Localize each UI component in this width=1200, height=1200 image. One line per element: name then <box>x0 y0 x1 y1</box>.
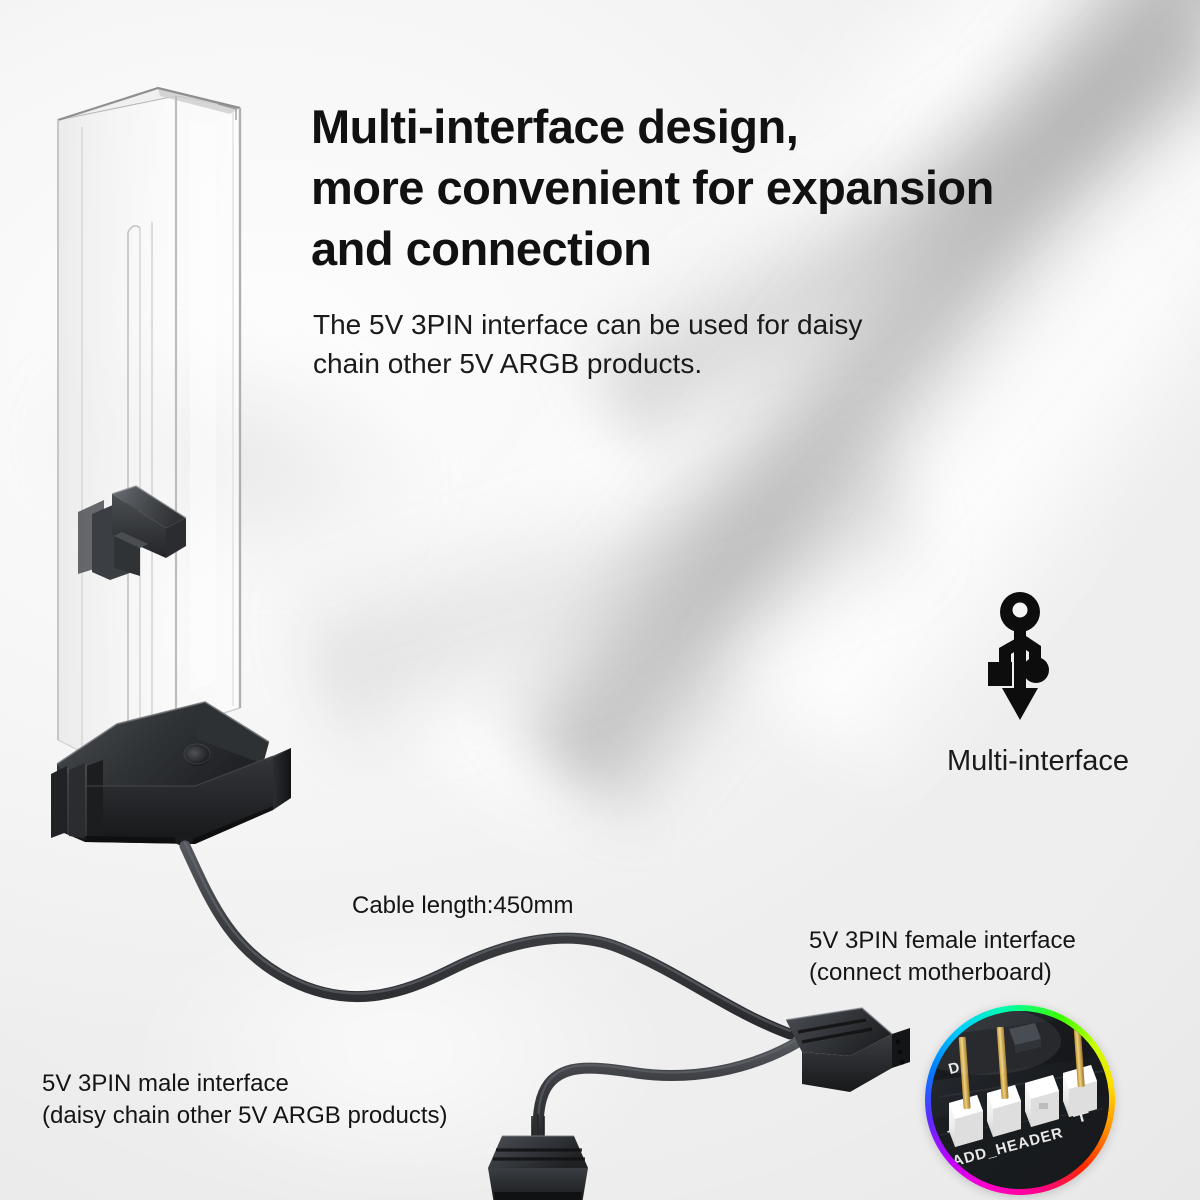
acrylic-diffuser-panel <box>40 80 300 780</box>
subtitle-line-2: chain other 5V ARGB products. <box>313 344 1013 383</box>
motherboard-closeup: D +5V D ADD_HEADER <box>931 1011 1109 1189</box>
mounting-bracket <box>70 470 240 590</box>
subtitle-line-1: The 5V 3PIN interface can be used for da… <box>313 305 1013 344</box>
cable-length-caption: Cable length:450mm <box>352 890 573 922</box>
usb-trident-icon <box>975 592 1065 722</box>
subtitle: The 5V 3PIN interface can be used for da… <box>313 305 1013 383</box>
page-title: Multi-interface design, more convenient … <box>311 96 1191 279</box>
headline-line-1: Multi-interface design, <box>311 96 1191 157</box>
flat-ribbon-cable <box>150 820 950 1200</box>
product-marketing-image: Multi-interface design, more convenient … <box>0 0 1200 1200</box>
female-connector-3pin <box>786 1008 910 1092</box>
headline-line-3: and connection <box>311 218 1191 279</box>
female-caption-line-1: 5V 3PIN female interface <box>809 925 1076 957</box>
headline-line-2: more convenient for expansion <box>311 157 1191 218</box>
male-connector-3pin <box>488 1136 588 1200</box>
female-interface-caption: 5V 3PIN female interface (connect mother… <box>809 925 1076 989</box>
motherboard-header-inset: D +5V D ADD_HEADER <box>925 1005 1115 1195</box>
male-interface-caption: 5V 3PIN male interface (daisy chain othe… <box>42 1068 448 1132</box>
male-caption-line-2: (daisy chain other 5V ARGB products) <box>42 1100 448 1132</box>
female-caption-line-2: (connect motherboard) <box>809 957 1076 989</box>
male-caption-line-1: 5V 3PIN male interface <box>42 1068 448 1100</box>
cable-length-text: Cable length:450mm <box>352 890 573 922</box>
multi-interface-label: Multi-interface <box>903 745 1173 778</box>
